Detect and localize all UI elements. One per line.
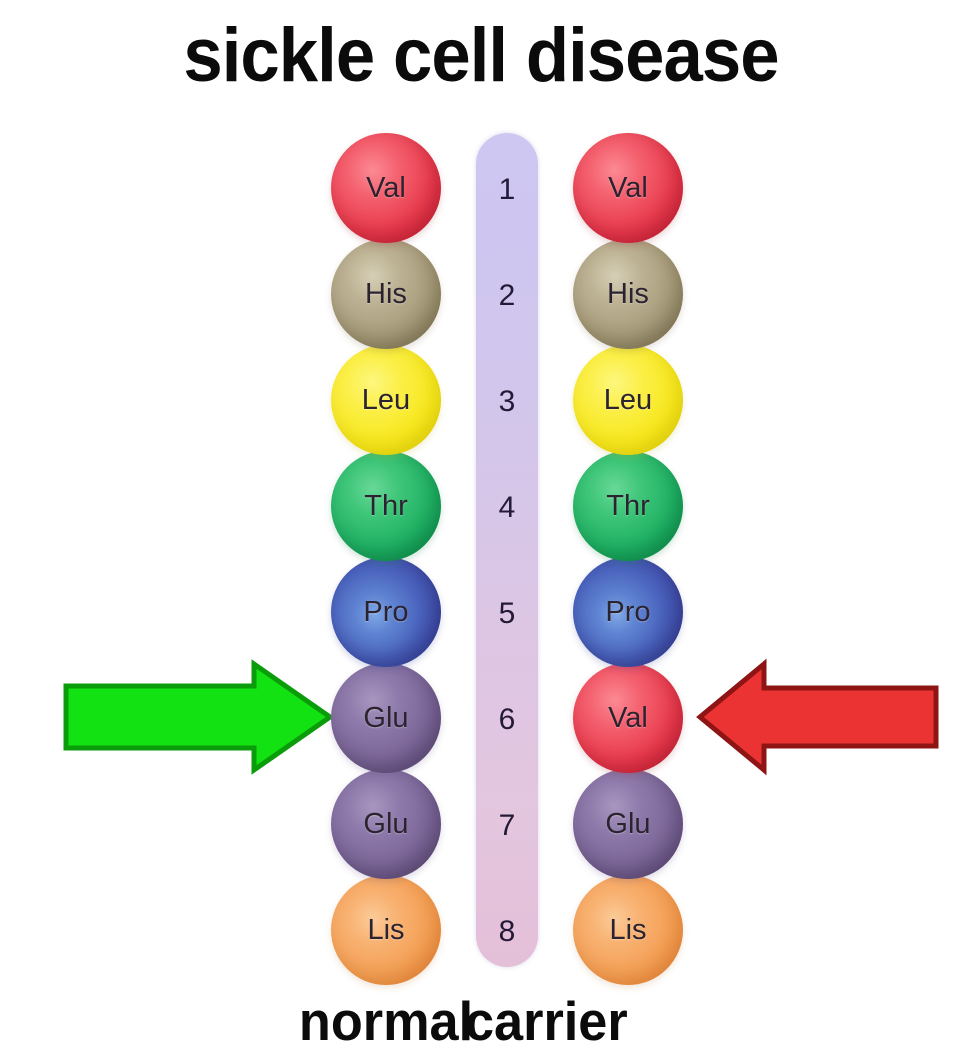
residue-sphere: Pro bbox=[573, 557, 683, 667]
residue-sphere: Thr bbox=[573, 451, 683, 561]
position-number: 7 bbox=[476, 811, 538, 841]
position-number: 5 bbox=[476, 599, 538, 629]
position-number: 4 bbox=[476, 493, 538, 523]
position-number: 1 bbox=[476, 175, 538, 205]
residue-sphere: Glu bbox=[573, 769, 683, 879]
residue-sphere: Val bbox=[331, 133, 441, 243]
position-number: 8 bbox=[476, 917, 538, 947]
residue-sphere: His bbox=[573, 239, 683, 349]
residue-sphere: His bbox=[331, 239, 441, 349]
arrow-right-icon bbox=[58, 658, 338, 776]
residue-sphere: Lis bbox=[573, 875, 683, 985]
residue-sphere: Val bbox=[573, 663, 683, 773]
arrow-left-icon bbox=[694, 658, 944, 776]
residue-sphere: Pro bbox=[331, 557, 441, 667]
residue-sphere: Lis bbox=[331, 875, 441, 985]
residue-sphere: Leu bbox=[331, 345, 441, 455]
position-number: 3 bbox=[476, 387, 538, 417]
residue-column-carrier: ValHisLeuThrProValGluLis bbox=[568, 0, 688, 1054]
position-number: 2 bbox=[476, 281, 538, 311]
residue-column-normal: ValHisLeuThrProGluGluLis bbox=[326, 0, 446, 1054]
residue-sphere: Glu bbox=[331, 769, 441, 879]
residue-sphere: Thr bbox=[331, 451, 441, 561]
page-title: sickle cell disease bbox=[34, 8, 929, 104]
position-number: 6 bbox=[476, 705, 538, 735]
residue-sphere: Leu bbox=[573, 345, 683, 455]
residue-sphere: Val bbox=[573, 133, 683, 243]
position-number-bar: 12345678 bbox=[476, 133, 538, 967]
residue-sphere: Glu bbox=[331, 663, 441, 773]
column-label-carrier: carrier bbox=[465, 990, 962, 1052]
